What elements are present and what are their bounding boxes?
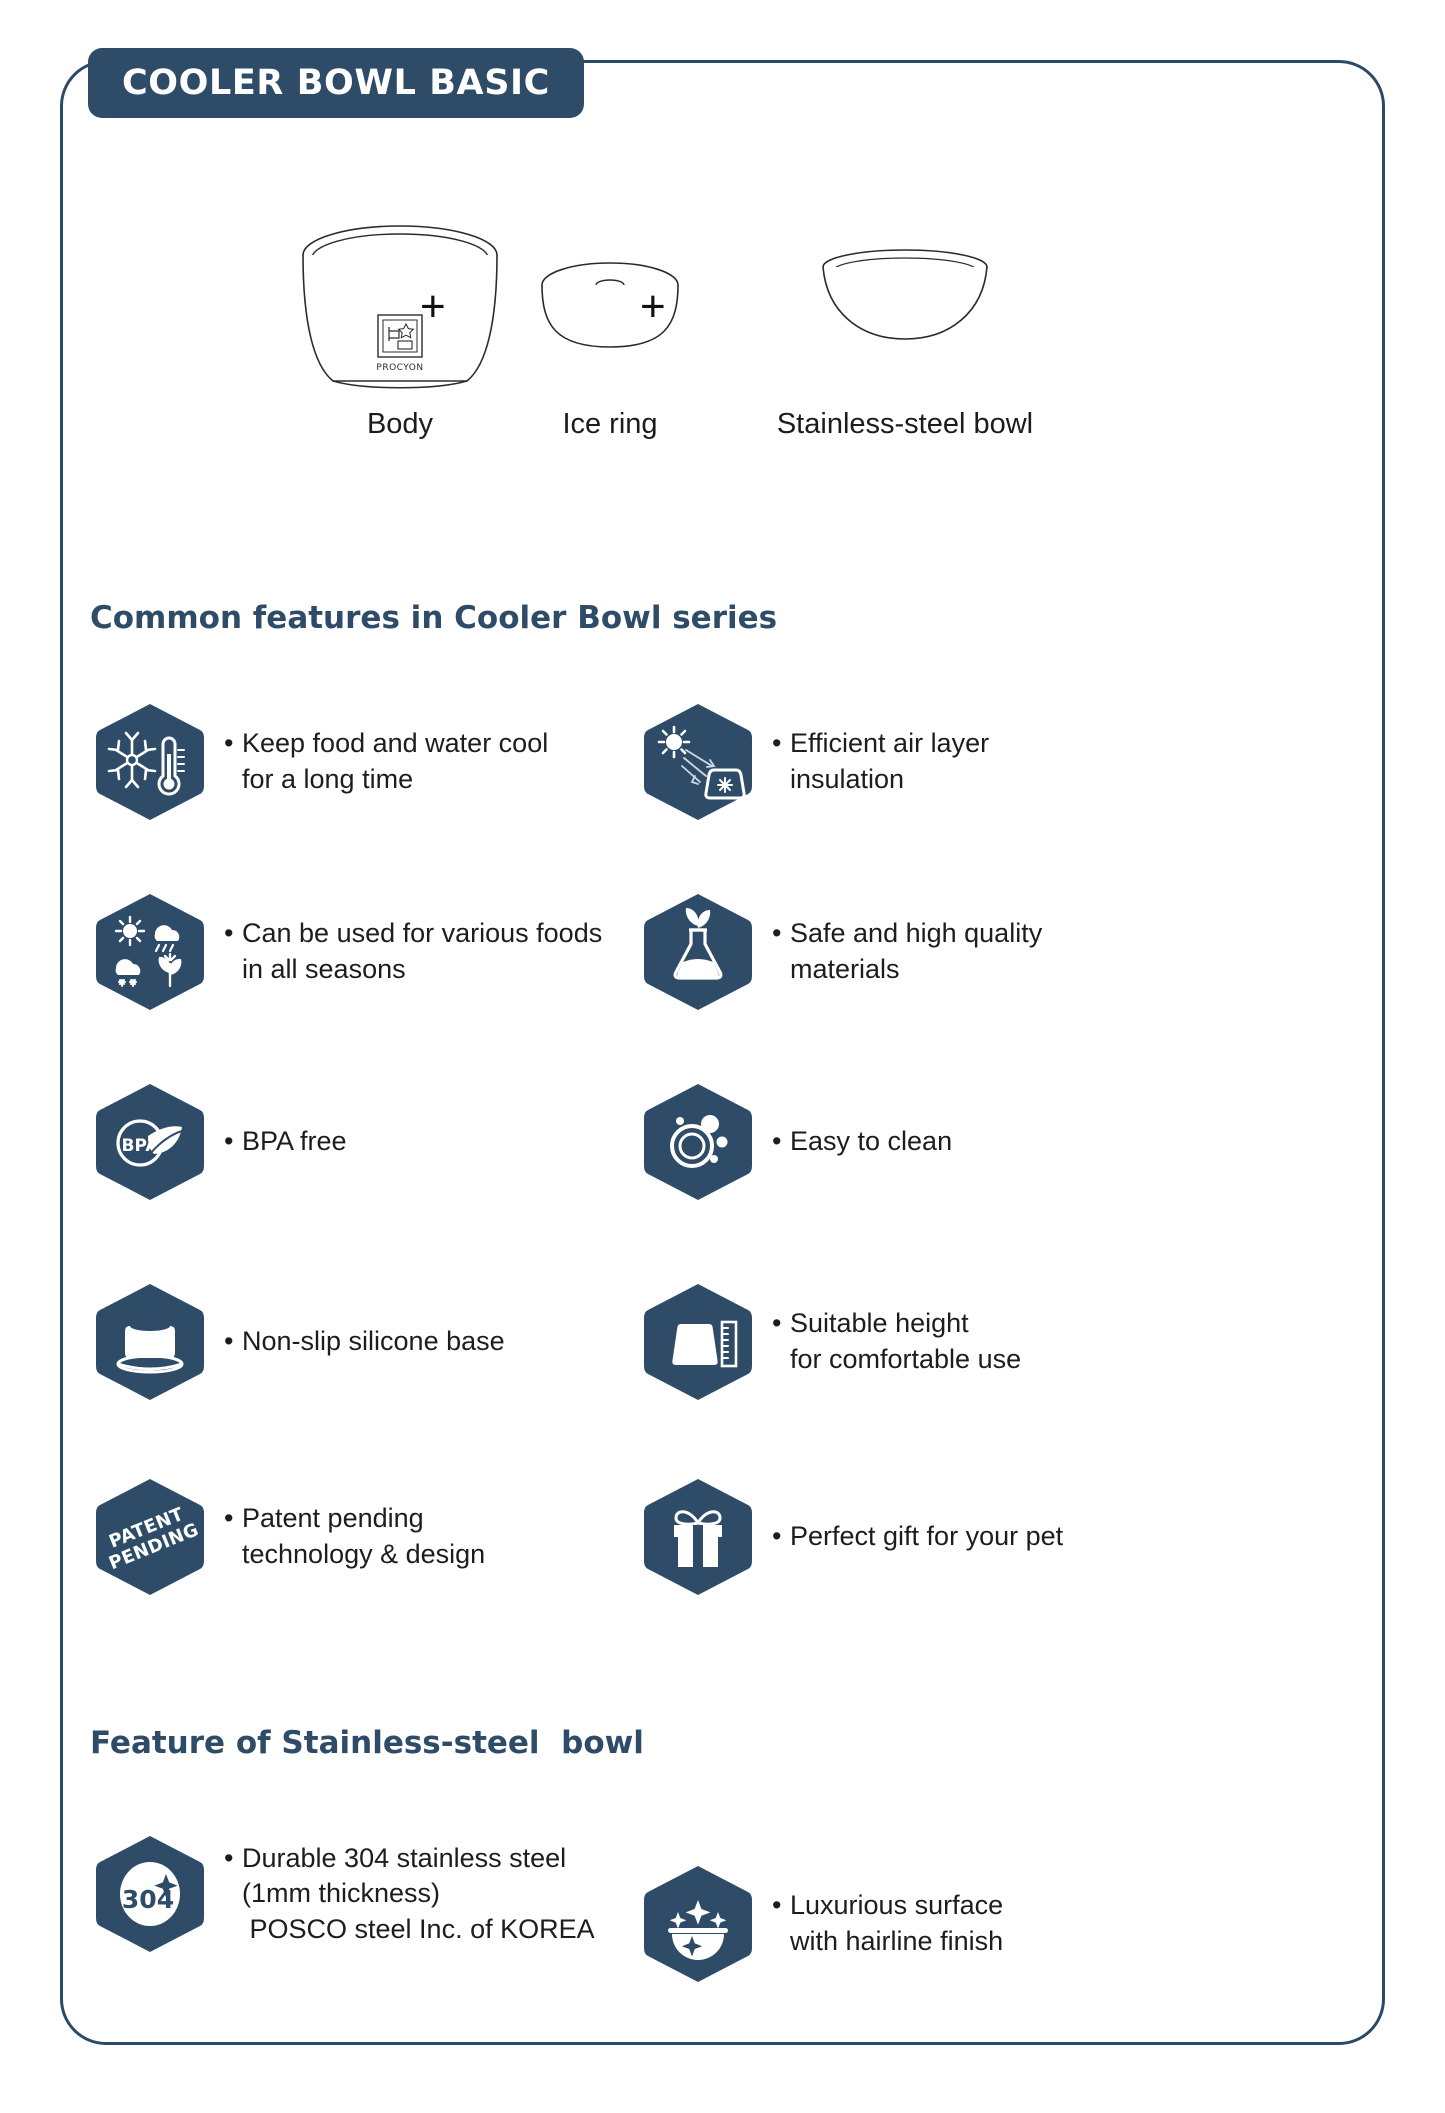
feature-line: •Can be used for various foods bbox=[224, 916, 602, 952]
easy-to-clean-bubbles-icon bbox=[640, 1080, 756, 1204]
non-slip-silicone-base-icon bbox=[92, 1280, 208, 1404]
flask-leaf-safe-material-icon bbox=[640, 890, 756, 1014]
bullet-marker: • bbox=[224, 1124, 242, 1160]
feature-suitable-height: •Suitable height for comfortable use bbox=[640, 1280, 1240, 1404]
composition-item-body: PROCYON Body bbox=[280, 215, 520, 441]
stainless-steel-bowl-illustration bbox=[685, 215, 1125, 400]
feature-text-air-layer-insulation: •Efficient air layer insulation bbox=[772, 726, 989, 797]
feature-text-bpa-free: •BPA free bbox=[224, 1124, 347, 1160]
feature-text-patent-pending: •Patent pending technology & design bbox=[224, 1501, 485, 1572]
bullet-marker: • bbox=[772, 1519, 790, 1555]
page-title-banner: COOLER BOWL BASIC bbox=[88, 48, 584, 118]
feature-line: for a long time bbox=[224, 762, 548, 798]
feature-line: •Non-slip silicone base bbox=[224, 1324, 505, 1360]
feature-text-non-slip-base: •Non-slip silicone base bbox=[224, 1324, 505, 1360]
feature-line: •Durable 304 stainless steel bbox=[224, 1841, 595, 1877]
bullet-marker: • bbox=[772, 1306, 790, 1342]
feature-line: •BPA free bbox=[224, 1124, 347, 1160]
feature-line: •Patent pending bbox=[224, 1501, 485, 1537]
feature-text-suitable-height: •Suitable height for comfortable use bbox=[772, 1306, 1021, 1377]
feature-line: •Keep food and water cool bbox=[224, 726, 548, 762]
bullet-marker: • bbox=[224, 1501, 242, 1537]
page-title: COOLER BOWL BASIC bbox=[122, 63, 550, 103]
infographic-page: COOLER BOWL BASIC PROCYON Body bbox=[0, 0, 1445, 2113]
feature-text-easy-to-clean: •Easy to clean bbox=[772, 1124, 952, 1160]
feature-304-steel: 304 •Durable 304 stainless steel (1mm th… bbox=[92, 1832, 692, 1956]
feature-bpa-free: BPA •BPA free bbox=[92, 1080, 692, 1204]
four-seasons-weather-icon bbox=[92, 890, 208, 1014]
feature-text-hairline-finish: •Luxurious surface with hairline finish bbox=[772, 1888, 1003, 1959]
feature-line: technology & design bbox=[224, 1537, 485, 1573]
feature-text-keep-cool: •Keep food and water cool for a long tim… bbox=[224, 726, 548, 797]
bullet-marker: • bbox=[224, 1324, 242, 1360]
cooler-bowl-body-illustration: PROCYON bbox=[280, 215, 520, 400]
feature-patent-pending: PATENT PENDING •Patent pending technolog… bbox=[92, 1475, 692, 1599]
feature-safe-materials: •Safe and high quality materials bbox=[640, 890, 1240, 1014]
feature-air-layer-insulation: •Efficient air layer insulation bbox=[640, 700, 1240, 824]
feature-line: •Easy to clean bbox=[772, 1124, 952, 1160]
feature-line: •Suitable height bbox=[772, 1306, 1021, 1342]
bullet-marker: • bbox=[224, 1841, 242, 1877]
feature-line: POSCO steel Inc. of KOREA bbox=[224, 1912, 595, 1948]
snowflake-thermometer-icon bbox=[92, 700, 208, 824]
bpa-free-icon: BPA bbox=[92, 1080, 208, 1204]
feature-line: in all seasons bbox=[224, 952, 602, 988]
feature-line: •Efficient air layer bbox=[772, 726, 989, 762]
patent-pending-icon: PATENT PENDING bbox=[92, 1475, 208, 1599]
feature-line: (1mm thickness) bbox=[224, 1876, 595, 1912]
feature-text-perfect-gift: •Perfect gift for your pet bbox=[772, 1519, 1063, 1555]
bullet-marker: • bbox=[224, 916, 242, 952]
bullet-marker: • bbox=[224, 726, 242, 762]
gift-box-icon bbox=[640, 1475, 756, 1599]
steel-304-grade-icon: 304 bbox=[92, 1832, 208, 1956]
feature-text-safe-materials: •Safe and high quality materials bbox=[772, 916, 1042, 987]
composition-plus-2: + bbox=[640, 285, 666, 329]
feature-all-seasons: •Can be used for various foods in all se… bbox=[92, 890, 692, 1014]
feature-line: •Perfect gift for your pet bbox=[772, 1519, 1063, 1555]
feature-line: materials bbox=[772, 952, 1042, 988]
steel-grade-label: 304 bbox=[122, 1885, 174, 1914]
feature-text-all-seasons: •Can be used for various foods in all se… bbox=[224, 916, 602, 987]
feature-hairline-finish: •Luxurious surface with hairline finish bbox=[640, 1862, 1240, 1986]
section-heading-steel-bowl: Feature of Stainless-steel bowl bbox=[90, 1725, 644, 1761]
section-heading-common-features: Common features in Cooler Bowl series bbox=[90, 600, 777, 636]
bullet-marker: • bbox=[772, 1124, 790, 1160]
feature-line: •Luxurious surface bbox=[772, 1888, 1003, 1924]
bullet-marker: • bbox=[772, 726, 790, 762]
feature-easy-to-clean: •Easy to clean bbox=[640, 1080, 1240, 1204]
composition-plus-1: + bbox=[420, 285, 446, 329]
feature-keep-cool: •Keep food and water cool for a long tim… bbox=[92, 700, 692, 824]
feature-line: insulation bbox=[772, 762, 989, 798]
feature-line: with hairline finish bbox=[772, 1924, 1003, 1960]
bullet-marker: • bbox=[772, 916, 790, 952]
feature-perfect-gift: •Perfect gift for your pet bbox=[640, 1475, 1240, 1599]
feature-non-slip-base: •Non-slip silicone base bbox=[92, 1280, 692, 1404]
composition-label-steel-bowl: Stainless-steel bowl bbox=[685, 408, 1125, 441]
feature-text-304-steel: •Durable 304 stainless steel (1mm thickn… bbox=[224, 1841, 595, 1948]
composition-item-steel-bowl: Stainless-steel bowl bbox=[685, 215, 1125, 441]
suitable-height-ruler-icon bbox=[640, 1280, 756, 1404]
feature-line: for comfortable use bbox=[772, 1342, 1021, 1378]
composition-label-body: Body bbox=[280, 408, 520, 441]
procyon-brand-mark: PROCYON bbox=[376, 363, 423, 373]
feature-line: •Safe and high quality bbox=[772, 916, 1042, 952]
hairline-finish-sparkle-bowl-icon bbox=[640, 1862, 756, 1986]
product-composition: PROCYON Body + Ice ring + bbox=[100, 215, 1345, 485]
sun-rays-insulation-icon bbox=[640, 700, 756, 824]
bullet-marker: • bbox=[772, 1888, 790, 1924]
